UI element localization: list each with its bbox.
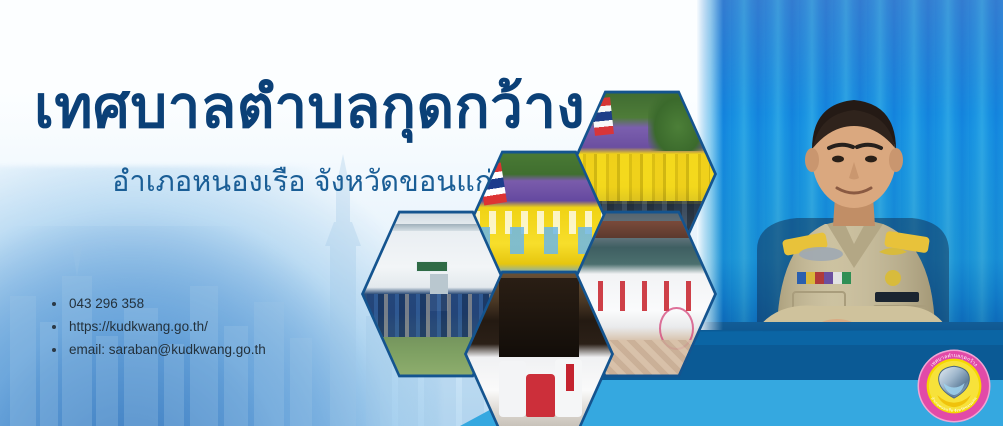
page-title: เทศบาลตำบลกุดกว้าง xyxy=(34,79,585,137)
municipal-seal: เทศบาลตำบลกุดกว้าง อำเภอหนองเรือ จังหวัด… xyxy=(916,348,992,424)
contact-website-text[interactable]: https://kudkwang.go.th/ xyxy=(69,319,208,334)
contact-website[interactable]: https://kudkwang.go.th/ xyxy=(52,315,266,338)
contact-phone-text: 043 296 358 xyxy=(69,296,144,311)
bullet-icon xyxy=(52,348,56,352)
bullet-icon xyxy=(52,302,56,306)
contact-phone: 043 296 358 xyxy=(52,292,266,315)
contact-email[interactable]: email: saraban@kudkwang.go.th xyxy=(52,338,266,361)
contact-email-text[interactable]: email: saraban@kudkwang.go.th xyxy=(69,342,266,357)
hex-photo-elderly-visit[interactable] xyxy=(464,268,614,426)
bullet-icon xyxy=(52,325,56,329)
mayor-portrait xyxy=(697,0,1003,380)
banner-root: เทศบาลตำบลกุดกว้าง อำเภอหนองเรือ จังหวัด… xyxy=(0,0,1003,426)
contact-list: 043 296 358 https://kudkwang.go.th/ emai… xyxy=(52,292,266,361)
page-subtitle: อำเภอหนองเรือ จังหวัดขอนแก่น xyxy=(112,158,512,204)
